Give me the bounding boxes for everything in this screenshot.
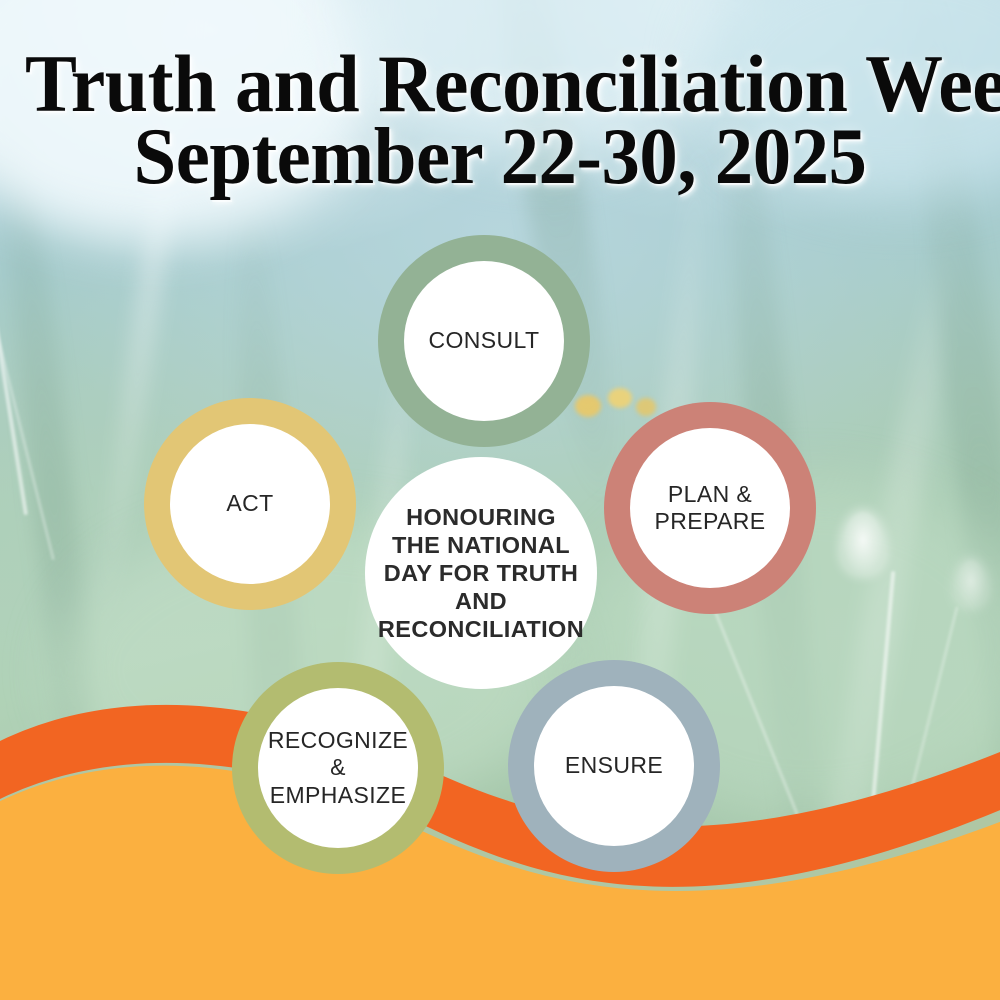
node-act[interactable]: ACT (144, 398, 356, 610)
node-act-inner: ACT (170, 424, 330, 584)
node-consult-inner: CONSULT (404, 261, 564, 421)
node-center-hub-label: HONOURING THE NATIONAL DAY FOR TRUTH AND… (378, 503, 584, 644)
node-plan-prepare-inner: PLAN & PREPARE (630, 428, 790, 588)
node-recognize-emphasize[interactable]: RECOGNIZE & EMPHASIZE (232, 662, 444, 874)
node-act-label: ACT (226, 490, 273, 517)
node-center-hub[interactable]: HONOURING THE NATIONAL DAY FOR TRUTH AND… (365, 457, 597, 689)
poster-canvas: Truth and Reconciliation Week September … (0, 0, 1000, 1000)
node-plan-prepare[interactable]: PLAN & PREPARE (604, 402, 816, 614)
reconciliation-cycle-diagram: CONSULT PLAN & PREPARE ENSURE RECOGNIZE … (0, 0, 1000, 1000)
node-consult-label: CONSULT (429, 327, 540, 354)
node-recognize-emphasize-inner: RECOGNIZE & EMPHASIZE (258, 688, 418, 848)
node-consult[interactable]: CONSULT (378, 235, 590, 447)
node-plan-prepare-label: PLAN & PREPARE (654, 481, 765, 535)
node-ensure[interactable]: ENSURE (508, 660, 720, 872)
node-ensure-inner: ENSURE (534, 686, 694, 846)
node-recognize-emphasize-label: RECOGNIZE & EMPHASIZE (268, 727, 408, 808)
node-ensure-label: ENSURE (565, 752, 663, 779)
